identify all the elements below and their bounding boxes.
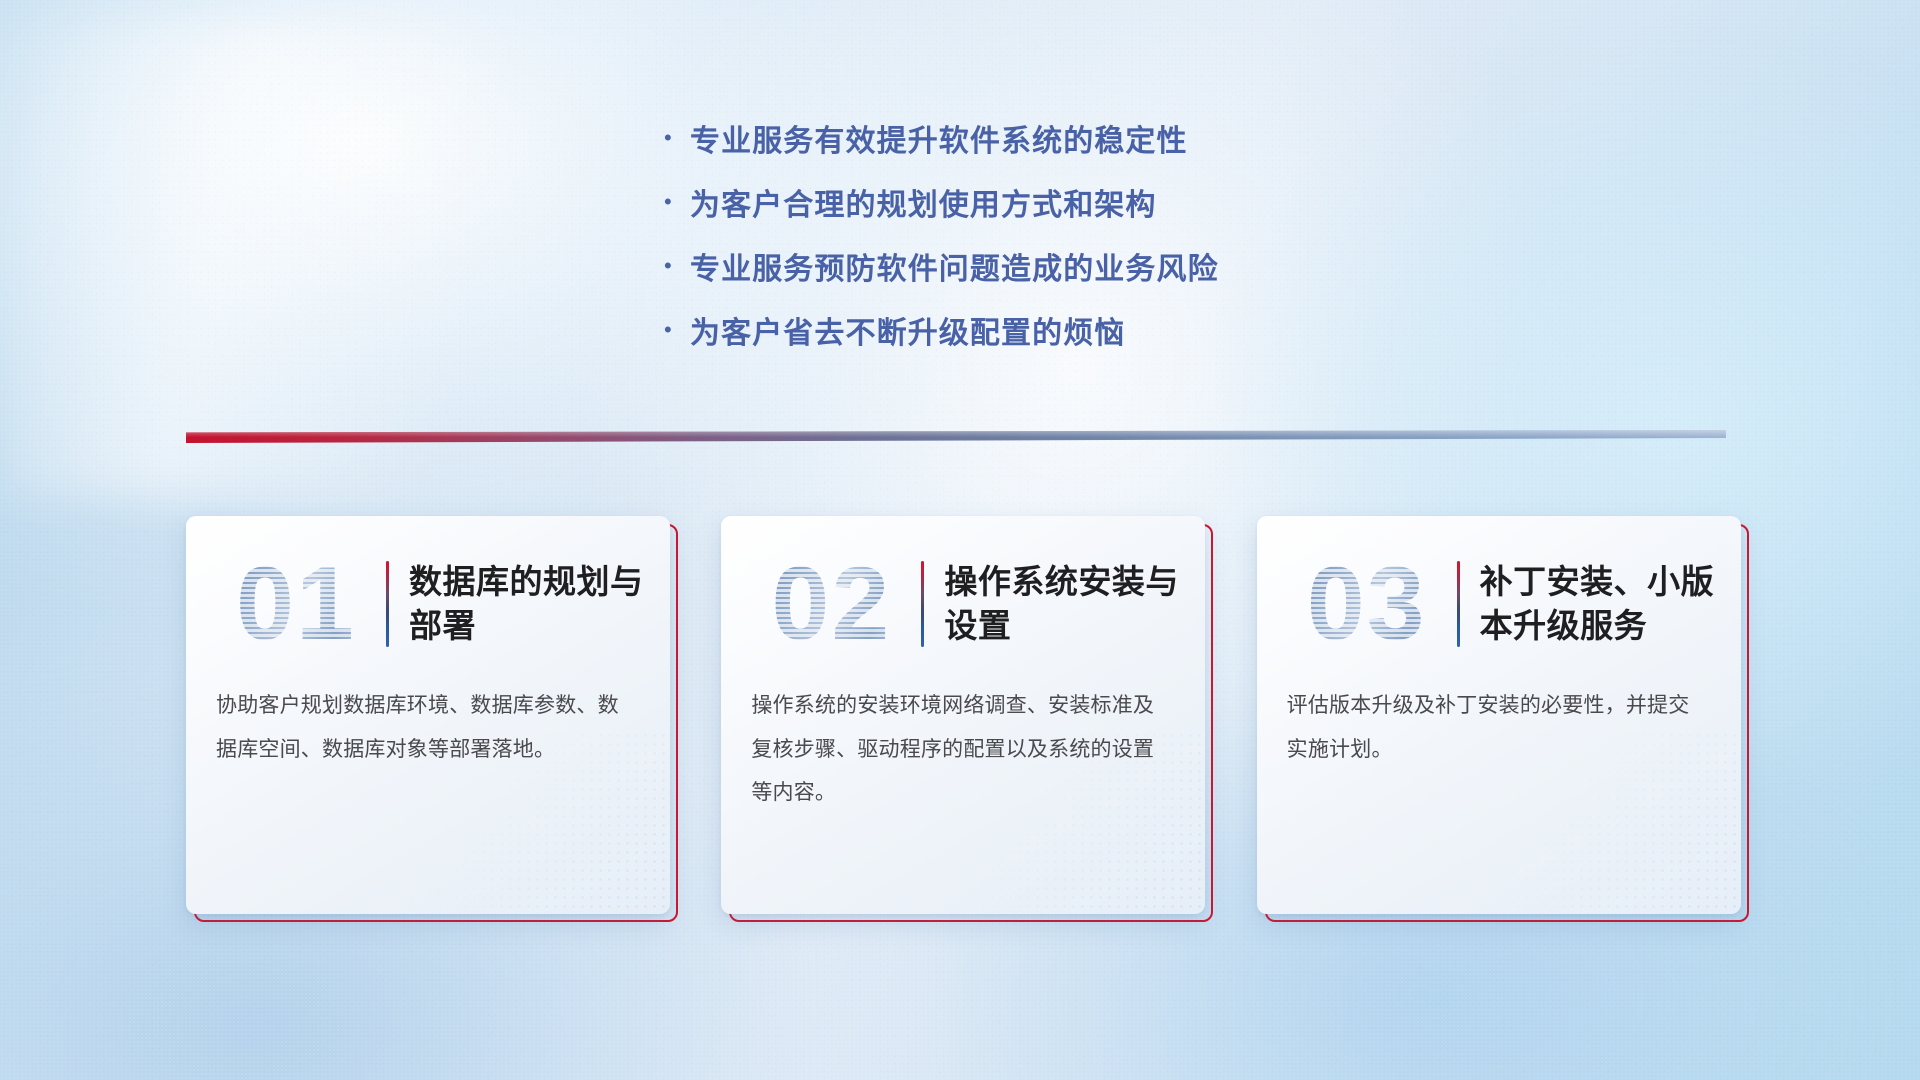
card-header: 03 补丁安装、小版本升级服务 xyxy=(1257,516,1741,666)
service-card-01[interactable]: 01 数据库的规划与部署 协助客户规划数据库环境、数据库参数、数据库空间、数据库… xyxy=(186,516,669,914)
divider-highlight xyxy=(186,430,1726,443)
card-header: 01 数据库的规划与部署 xyxy=(186,516,670,666)
card-title: 操作系统安装与设置 xyxy=(944,560,1179,647)
card-surface: 01 数据库的规划与部署 协助客户规划数据库环境、数据库参数、数据库空间、数据库… xyxy=(186,516,670,914)
card-description: 操作系统的安装环境网络调查、安装标准及复核步骤、驱动程序的配置以及系统的设置等内… xyxy=(721,666,1205,815)
gradient-divider xyxy=(186,430,1726,443)
card-description: 协助客户规划数据库环境、数据库参数、数据库空间、数据库对象等部署落地。 xyxy=(186,666,670,771)
card-title: 数据库的规划与部署 xyxy=(409,560,644,647)
list-item: • 为客户省去不断升级配置的烦恼 xyxy=(660,298,1560,362)
card-number-glyph: 01 xyxy=(210,552,382,656)
card-title: 补丁安装、小版本升级服务 xyxy=(1480,560,1715,647)
bullet-item-label: 专业服务有效提升软件系统的稳定性 xyxy=(690,116,1188,160)
list-item: • 为客户合理的规划使用方式和架构 xyxy=(660,170,1560,234)
bullet-dot-icon: • xyxy=(660,255,690,277)
list-item: • 专业服务预防软件问题造成的业务风险 xyxy=(660,234,1560,298)
bullet-item-label: 为客户省去不断升级配置的烦恼 xyxy=(690,308,1125,352)
service-card-row: 01 数据库的规划与部署 协助客户规划数据库环境、数据库参数、数据库空间、数据库… xyxy=(186,516,1740,914)
bullet-dot-icon: • xyxy=(660,191,690,213)
slide-canvas: • 专业服务有效提升软件系统的稳定性 • 为客户合理的规划使用方式和架构 • 专… xyxy=(0,0,1920,1080)
bullet-item-label: 专业服务预防软件问题造成的业务风险 xyxy=(690,244,1219,288)
list-item: • 专业服务有效提升软件系统的稳定性 xyxy=(660,106,1560,170)
card-number-glyph: 03 xyxy=(1281,552,1453,656)
card-divider-rule xyxy=(921,561,924,647)
card-description: 评估版本升级及补丁安装的必要性，并提交实施计划。 xyxy=(1257,666,1741,771)
card-divider-rule xyxy=(386,561,389,647)
benefits-bullet-list: • 专业服务有效提升软件系统的稳定性 • 为客户合理的规划使用方式和架构 • 专… xyxy=(660,106,1560,362)
bullet-dot-icon: • xyxy=(660,127,690,149)
service-card-02[interactable]: 02 操作系统安装与设置 操作系统的安装环境网络调查、安装标准及复核步骤、驱动程… xyxy=(721,516,1204,914)
card-number: 03 xyxy=(1281,552,1453,656)
card-number: 01 xyxy=(210,552,382,656)
card-number-glyph: 02 xyxy=(745,552,917,656)
bullet-dot-icon: • xyxy=(660,319,690,341)
card-number: 02 xyxy=(745,552,917,656)
card-divider-rule xyxy=(1457,561,1460,647)
service-card-03[interactable]: 03 补丁安装、小版本升级服务 评估版本升级及补丁安装的必要性，并提交实施计划。 xyxy=(1257,516,1740,914)
card-header: 02 操作系统安装与设置 xyxy=(721,516,1205,666)
card-surface: 02 操作系统安装与设置 操作系统的安装环境网络调查、安装标准及复核步骤、驱动程… xyxy=(721,516,1205,914)
bullet-item-label: 为客户合理的规划使用方式和架构 xyxy=(690,180,1157,224)
card-surface: 03 补丁安装、小版本升级服务 评估版本升级及补丁安装的必要性，并提交实施计划。 xyxy=(1257,516,1741,914)
